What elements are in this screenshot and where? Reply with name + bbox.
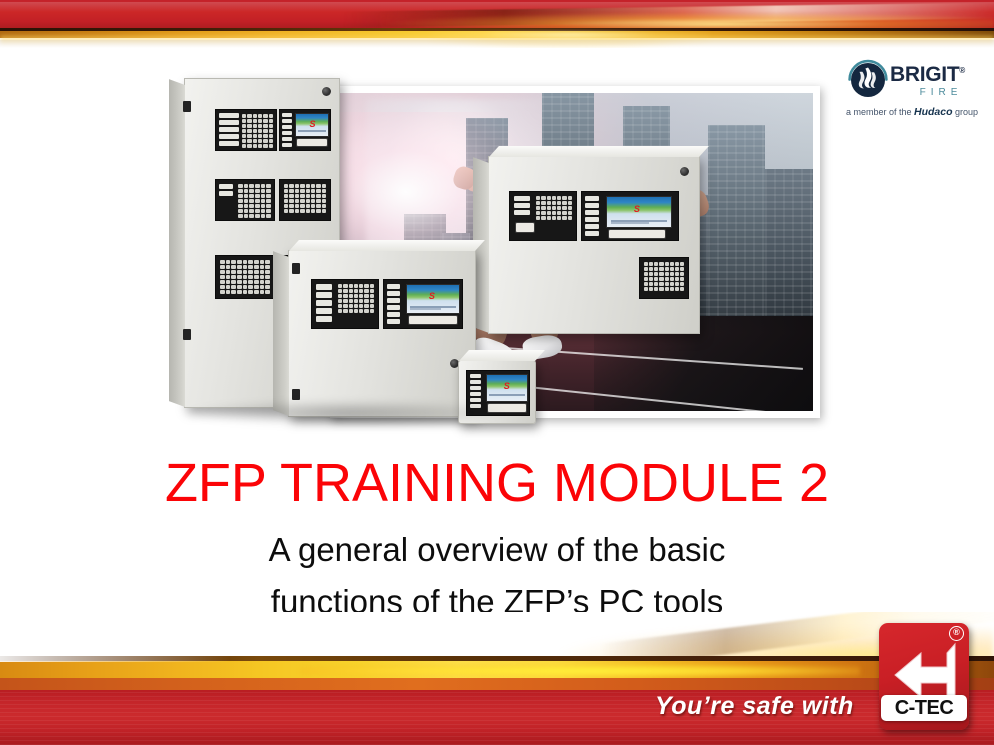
ctec-wordmark: C-TEC [881, 695, 967, 721]
brigit-name-text: BRIGIT [890, 63, 959, 86]
panel-button-row [514, 196, 530, 215]
panel-side [169, 79, 185, 407]
panel-key-switch [296, 138, 328, 147]
ctec-wordmark-banner: C-TEC [881, 695, 967, 721]
lcd-text-line [611, 222, 649, 224]
panel-button-row [219, 113, 239, 146]
panel-hinge [183, 101, 191, 112]
panel-control-module [311, 279, 379, 329]
subtitle-line-1: A general overview of the basic [0, 524, 994, 576]
panel-led-grid [238, 184, 271, 218]
panel-hinge [183, 329, 191, 340]
panel-softkeys [585, 196, 599, 236]
panel-control-module [215, 109, 277, 151]
lcd-text-line [410, 308, 441, 310]
brigit-fire-logo: BRIGIT® FIRE a member of the Hudaco grou… [836, 52, 988, 126]
panel-zone-module [215, 255, 275, 299]
lcd-logo: S [634, 205, 640, 214]
lcd-text-line [489, 394, 524, 396]
panel-lock [322, 87, 331, 96]
panel-drop-shadow [180, 400, 510, 426]
panel-softkeys [282, 113, 292, 147]
panel-led-grid [242, 114, 273, 148]
panel-zone-module [279, 179, 331, 221]
panel-hinge [292, 389, 300, 400]
panel-button-row [316, 284, 332, 322]
panel-led-grid [220, 260, 270, 294]
panel-side [273, 251, 289, 416]
panel-key-switch [408, 315, 458, 325]
brigit-name: BRIGIT® [890, 60, 986, 86]
panel-display-module: S [383, 279, 463, 329]
lcd-logo: S [504, 382, 510, 391]
panel-display-module: S [581, 191, 679, 241]
panel-zone-module [639, 257, 689, 299]
lcd-text-line [298, 130, 326, 132]
panel-softkeys [387, 284, 400, 324]
flame-circle-icon [846, 57, 890, 101]
panel-led-grid [536, 196, 572, 220]
building [708, 125, 765, 322]
panel-top-face [289, 240, 485, 251]
bottom-banner-yellow-core [300, 664, 860, 678]
panel-led-grid [338, 284, 374, 313]
panel-key-switch [608, 229, 666, 239]
panel-zone-module [215, 179, 275, 221]
ctec-logo: ® C-TEC [879, 623, 969, 730]
ctec-registered-mark: ® [949, 626, 964, 641]
bottom-banner-left-fade [0, 648, 230, 662]
zfp-small-panel: S [288, 250, 476, 417]
panel-hinge [292, 263, 300, 274]
panel-control-module [509, 191, 577, 241]
presentation-slide: BRIGIT® FIRE a member of the Hudaco grou… [0, 0, 994, 745]
panel-button-row [219, 184, 233, 196]
brigit-sub-label: FIRE [890, 87, 986, 98]
panel-display-module: S [279, 109, 331, 151]
panel-lcd-screen: S [606, 196, 672, 228]
panel-lcd-screen: S [486, 374, 528, 402]
panel-top-face [489, 146, 709, 157]
member-suffix: group [953, 107, 979, 117]
panel-key-switch [515, 222, 535, 233]
brigit-registered-mark: ® [959, 66, 965, 75]
page-title: ZFP TRAINING MODULE 2 [0, 452, 994, 514]
panel-led-grid [284, 184, 326, 213]
panel-lcd-screen: S [295, 113, 329, 137]
panel-led-grid [644, 262, 684, 291]
zfp-medium-panel: S [488, 156, 700, 334]
top-banner [0, 0, 994, 48]
lcd-logo: S [309, 120, 315, 129]
member-brand: Hudaco [914, 106, 953, 118]
brigit-member-note: a member of the Hudaco group [836, 106, 988, 118]
hero-image: S [170, 70, 820, 435]
panel-top-face [459, 350, 545, 361]
member-prefix: a member of the [846, 107, 914, 117]
top-banner-bottom-fade [0, 40, 994, 48]
panel-lcd-screen: S [406, 284, 460, 314]
building [765, 169, 813, 322]
tagline: You’re safe with [655, 692, 854, 721]
lcd-logo: S [429, 292, 435, 301]
bottom-banner [0, 612, 994, 745]
brigit-wordmark: BRIGIT® FIRE [890, 60, 986, 98]
panel-lock [680, 167, 689, 176]
